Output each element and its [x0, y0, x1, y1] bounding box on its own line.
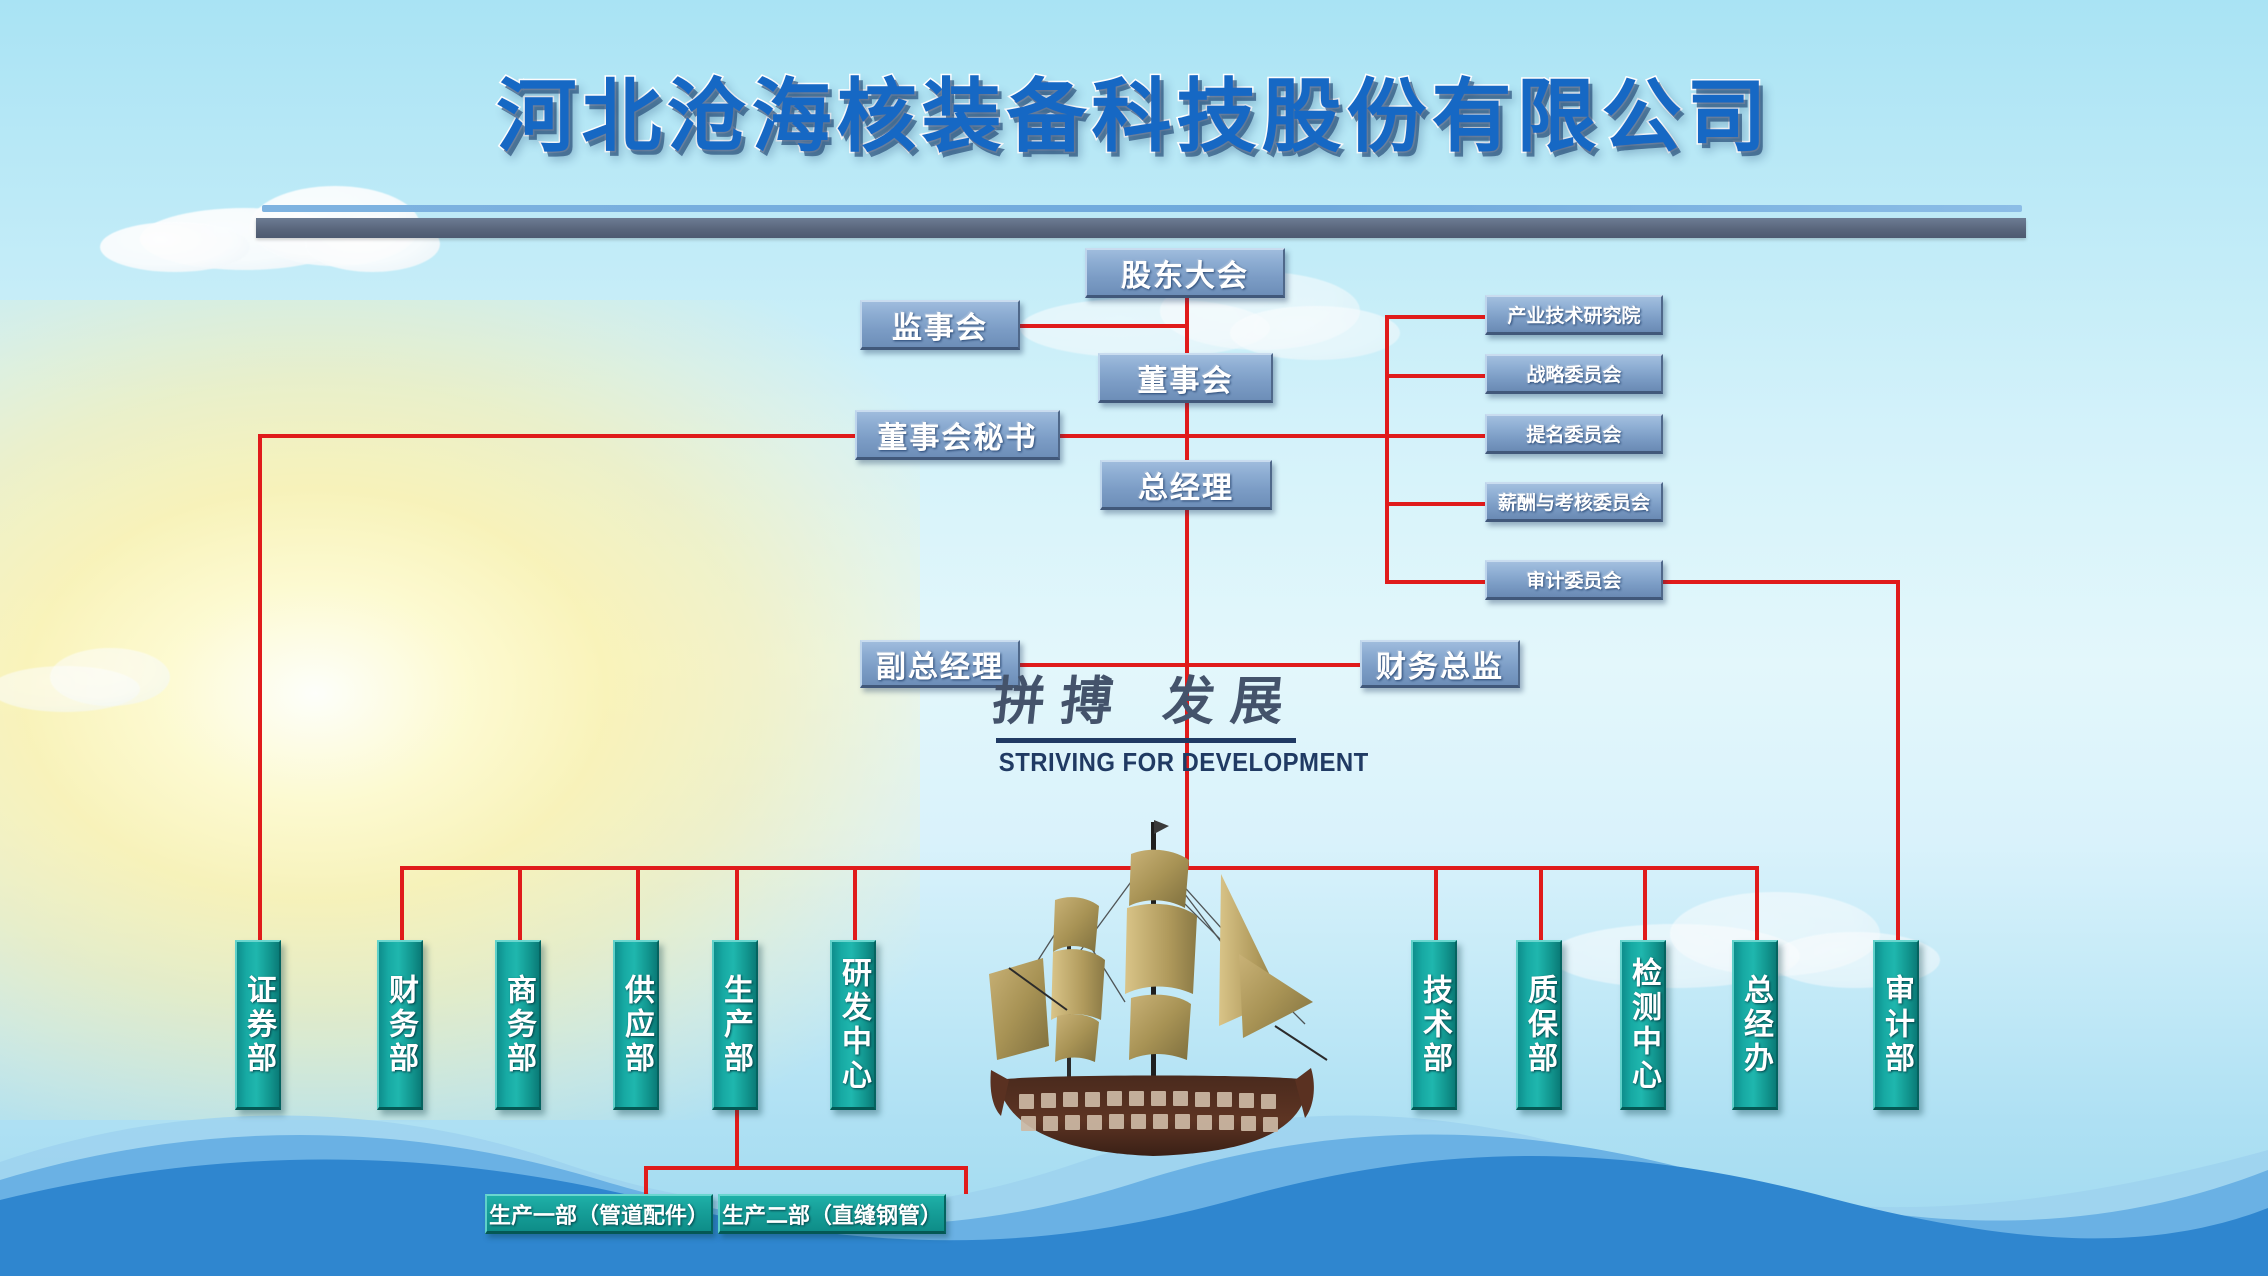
dept-finance-label: 财务部	[385, 974, 415, 1076]
node-deputy-general-manager[interactable]: 副总经理	[860, 640, 1020, 688]
connector-drop-subunit-1	[644, 1166, 648, 1194]
connector-drop-subunit-2	[964, 1166, 968, 1194]
subunit-production-two-label: 生产二部（直缝钢管）	[722, 1198, 942, 1230]
connector-drop-finance	[400, 866, 404, 940]
sun-glow	[0, 300, 920, 1120]
connector-subunit-bus	[644, 1166, 968, 1170]
cloud-mid-left	[0, 640, 190, 720]
node-cfo[interactable]: 财务总监	[1360, 640, 1520, 688]
node-committee-strategy-label: 战略委员会	[1526, 360, 1621, 387]
dept-gm-office[interactable]: 总经办	[1732, 940, 1778, 1110]
connector-committee-3	[1385, 434, 1489, 438]
connector-drop-supply	[636, 866, 640, 940]
title-rule-thin	[262, 205, 2022, 212]
connector-committee-4	[1385, 502, 1489, 506]
connector-secretary-row	[258, 434, 1388, 438]
dept-quality-assurance-label: 质保部	[1524, 974, 1554, 1076]
node-shareholders-meeting-label: 股东大会	[1121, 251, 1249, 295]
node-committee-nomination-label: 提名委员会	[1526, 420, 1621, 447]
node-committee-audit-label: 审计委员会	[1526, 566, 1621, 593]
node-supervisory-board-label: 监事会	[892, 303, 988, 347]
dept-technology[interactable]: 技术部	[1411, 940, 1457, 1110]
slogan-english: STRIVING FOR DEVELOPMENT	[999, 747, 1293, 778]
page-title: 河北沧海核装备科技股份有限公司	[0, 52, 2268, 168]
dept-rnd-center[interactable]: 研发中心	[830, 940, 876, 1110]
connector-drop-gm-office	[1755, 866, 1759, 940]
node-committee-compensation[interactable]: 薪酬与考核委员会	[1485, 482, 1663, 522]
node-committee-industrial-research-label: 产业技术研究院	[1507, 301, 1640, 328]
dept-audit[interactable]: 审计部	[1873, 940, 1919, 1110]
connector-committee-2	[1385, 374, 1489, 378]
dept-supply-label: 供应部	[621, 974, 651, 1076]
connector-drop-technology	[1434, 866, 1438, 940]
connector-drop-rnd	[853, 866, 857, 940]
node-committee-strategy[interactable]: 战略委员会	[1485, 354, 1663, 394]
slogan-chinese: 拼搏 发展	[983, 676, 1308, 728]
node-shareholders-meeting[interactable]: 股东大会	[1085, 248, 1285, 298]
connector-secretary-to-securities	[258, 434, 262, 940]
subunit-production-one-label: 生产一部（管道配件）	[489, 1198, 709, 1230]
node-deputy-general-manager-label: 副总经理	[876, 642, 1004, 686]
node-board-secretary-label: 董事会秘书	[878, 413, 1038, 457]
dept-inspection-center-label: 检测中心	[1628, 957, 1658, 1093]
node-committee-nomination[interactable]: 提名委员会	[1485, 414, 1663, 454]
node-board-of-directors-label: 董事会	[1138, 356, 1234, 400]
dept-supply[interactable]: 供应部	[613, 940, 659, 1110]
org-chart-poster: 河北沧海核装备科技股份有限公司 股东大会 监事会 董事会	[0, 0, 2268, 1276]
dept-securities[interactable]: 证券部	[235, 940, 281, 1110]
connector-drop-inspection	[1643, 866, 1647, 940]
dept-production[interactable]: 生产部	[712, 940, 758, 1110]
node-supervisory-board[interactable]: 监事会	[860, 300, 1020, 350]
dept-securities-label: 证券部	[243, 974, 273, 1076]
slogan-divider	[996, 738, 1296, 743]
node-committee-industrial-research[interactable]: 产业技术研究院	[1485, 295, 1663, 335]
subunit-production-one[interactable]: 生产一部（管道配件）	[485, 1194, 713, 1234]
connector-committee-1	[1385, 315, 1489, 319]
node-general-manager-label: 总经理	[1138, 463, 1234, 507]
dept-rnd-center-label: 研发中心	[838, 957, 868, 1093]
subunit-production-two[interactable]: 生产二部（直缝钢管）	[718, 1194, 946, 1234]
connector-drop-quality	[1539, 866, 1543, 940]
dept-technology-label: 技术部	[1419, 974, 1449, 1076]
dept-quality-assurance[interactable]: 质保部	[1516, 940, 1562, 1110]
dept-audit-label: 审计部	[1881, 974, 1911, 1076]
dept-finance[interactable]: 财务部	[377, 940, 423, 1110]
dept-inspection-center[interactable]: 检测中心	[1620, 940, 1666, 1110]
connector-drop-production	[735, 866, 739, 940]
node-committee-audit[interactable]: 审计委员会	[1485, 560, 1663, 600]
node-cfo-label: 财务总监	[1376, 642, 1504, 686]
connector-committee-spine	[1385, 315, 1389, 583]
dept-gm-office-label: 总经办	[1740, 974, 1770, 1076]
connector-audit-down	[1896, 580, 1900, 940]
node-board-secretary[interactable]: 董事会秘书	[855, 410, 1060, 460]
sailing-ship-illustration	[975, 812, 1335, 1172]
dept-business-label: 商务部	[503, 974, 533, 1076]
company-slogan: 拼搏 发展 STRIVING FOR DEVELOPMENT	[986, 676, 1306, 778]
connector-drop-business	[518, 866, 522, 940]
connector-exec-row	[1018, 663, 1368, 667]
connector-supervisory-to-spine	[1018, 324, 1188, 328]
node-general-manager[interactable]: 总经理	[1100, 460, 1272, 510]
connector-production-down	[735, 1110, 739, 1168]
connector-committee-5	[1385, 580, 1489, 584]
dept-production-label: 生产部	[720, 974, 750, 1076]
node-board-of-directors[interactable]: 董事会	[1098, 353, 1273, 403]
dept-business[interactable]: 商务部	[495, 940, 541, 1110]
company-title-text: 河北沧海核装备科技股份有限公司	[497, 52, 1772, 168]
node-committee-compensation-label: 薪酬与考核委员会	[1498, 488, 1650, 515]
title-rule-thick	[256, 218, 2026, 238]
